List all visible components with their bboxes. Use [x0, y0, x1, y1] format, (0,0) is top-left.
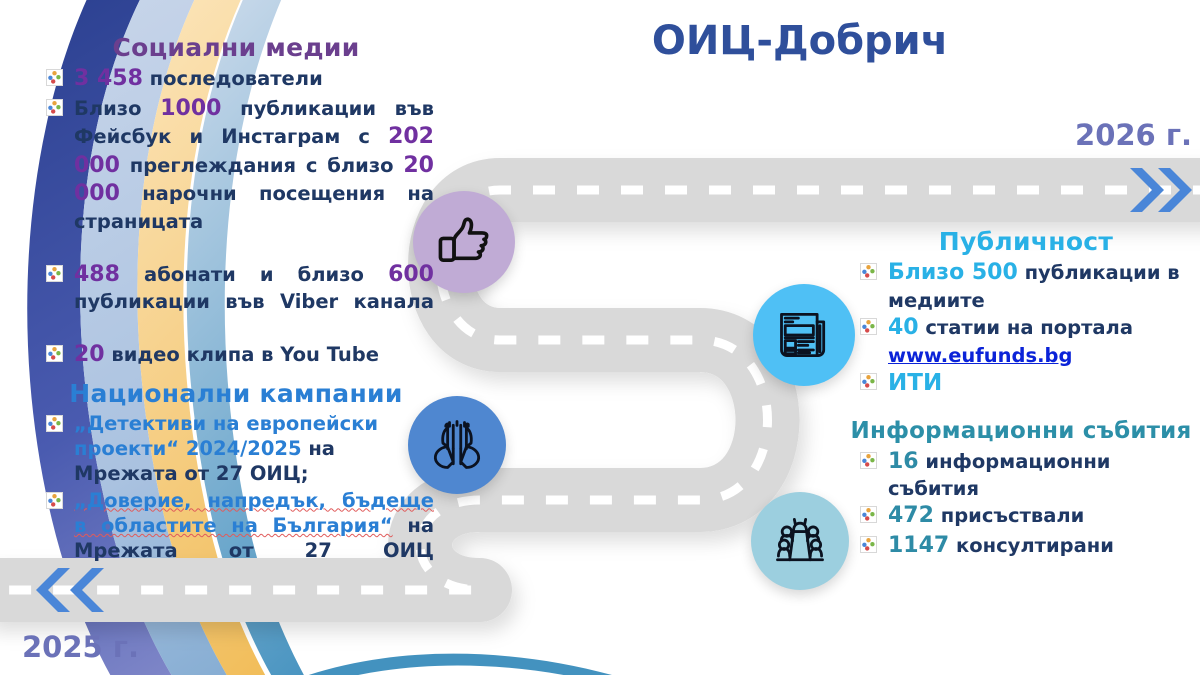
- eufunds-link[interactable]: www.eufunds.bg: [888, 344, 1072, 367]
- publicity-value-media: Близо 500: [888, 260, 1018, 285]
- list-item: 40 статии на портала www.eufunds.bg: [852, 314, 1200, 368]
- events-value-attended: 472: [888, 503, 934, 528]
- pinwheel-bullet-icon: [860, 263, 877, 280]
- pinwheel-bullet-icon: [860, 318, 877, 335]
- list-item: „Детективи на европейски проекти“ 2024/2…: [38, 411, 434, 487]
- list-item: 20 видео клипа в You Tube: [38, 341, 434, 370]
- pinwheel-bullet-icon: [46, 415, 63, 432]
- pinwheel-bullet-icon: [46, 345, 63, 362]
- list-item: 16 информационни събития: [852, 448, 1200, 502]
- social-text-visits: нарочни посещения на страницата: [74, 182, 434, 233]
- section-publicity: Публичност Близо 500 публик: [852, 228, 1200, 399]
- pinwheel-bullet-icon: [860, 452, 877, 469]
- infographic-slide: ОИЦ-Добрич 2026 г. 2025 г. Социални меди…: [0, 0, 1200, 675]
- section-social-media: Социални медии 3 458 послед: [38, 34, 434, 370]
- page-title: ОИЦ-Добрич: [560, 18, 1040, 64]
- social-media-list: 3 458 последователи Близ: [38, 65, 434, 370]
- campaign-2-title: „Доверие, напредък, бъдеще в областите н…: [74, 489, 434, 537]
- publicity-value-iti: ИТИ: [888, 370, 942, 396]
- events-text-attended: присъствали: [934, 504, 1084, 527]
- national-campaigns-list: „Детективи на европейски проекти“ 2024/2…: [38, 411, 434, 589]
- list-item: ИТИ: [852, 369, 1200, 399]
- right-column: Публичност Близо 500 публик: [852, 228, 1200, 563]
- year-end-label: 2026 г.: [1075, 118, 1192, 152]
- events-value-consulted: 1147: [888, 533, 949, 558]
- pinwheel-bullet-icon: [46, 265, 63, 282]
- events-text-count: информационни събития: [888, 450, 1110, 501]
- pinwheel-bullet-icon: [46, 99, 63, 116]
- viber-text-subscribers: абонати и близо: [120, 263, 388, 286]
- publicity-list: Близо 500 публикации в медиите: [852, 259, 1200, 399]
- info-events-list: 16 информационни събития: [852, 448, 1200, 561]
- text-layer: ОИЦ-Добрич 2026 г. 2025 г. Социални меди…: [0, 0, 1200, 675]
- section-heading-publicity: Публичност: [852, 228, 1200, 256]
- list-item: 1147 консултирани: [852, 532, 1200, 561]
- section-info-events: Информационни събития 16 ин: [842, 419, 1200, 561]
- publicity-value-articles: 40: [888, 315, 919, 340]
- section-heading-national-campaigns: Национални кампании: [38, 380, 434, 408]
- section-national-campaigns: Национални кампании „Детект: [38, 380, 434, 589]
- section-heading-info-events: Информационни събития: [842, 419, 1200, 445]
- pinwheel-bullet-icon: [860, 536, 877, 553]
- section-heading-social-media: Социални медии: [38, 34, 434, 62]
- events-value-count: 16: [888, 449, 919, 474]
- youtube-value: 20: [74, 342, 105, 367]
- year-start-label: 2025 г.: [22, 630, 139, 664]
- pinwheel-bullet-icon: [46, 492, 63, 509]
- list-item: 488 абонати и близо 600 публикации във V…: [38, 261, 434, 340]
- pinwheel-bullet-icon: [860, 506, 877, 523]
- viber-value-subscribers: 488: [74, 262, 120, 287]
- events-text-consulted: консултирани: [949, 534, 1114, 557]
- pinwheel-bullet-icon: [860, 373, 877, 390]
- social-value-posts: 1000: [160, 96, 221, 121]
- viber-text-posts: публикации във Viber канала: [74, 290, 434, 313]
- list-item: „Доверие, напредък, бъдеще в областите н…: [38, 488, 434, 589]
- social-text-views: преглеждания с близо: [120, 154, 403, 177]
- viber-value-posts: 600: [388, 262, 434, 287]
- social-text-followers: последователи: [143, 67, 323, 90]
- list-item: 3 458 последователи: [38, 65, 434, 94]
- pinwheel-bullet-icon: [46, 69, 63, 86]
- left-column: Социални медии 3 458 послед: [38, 34, 434, 591]
- list-item: Близо 1000 публикации във Фейсбук и Инст…: [38, 95, 434, 260]
- youtube-text: видео клипа в You Tube: [105, 343, 379, 366]
- social-prefix-posts: Близо: [74, 97, 160, 120]
- list-item: Близо 500 публикации в медиите: [852, 259, 1200, 313]
- publicity-text-articles: статии на портала: [919, 316, 1133, 339]
- social-value-followers: 3 458: [74, 66, 143, 91]
- list-item: 472 присъствали: [852, 502, 1200, 531]
